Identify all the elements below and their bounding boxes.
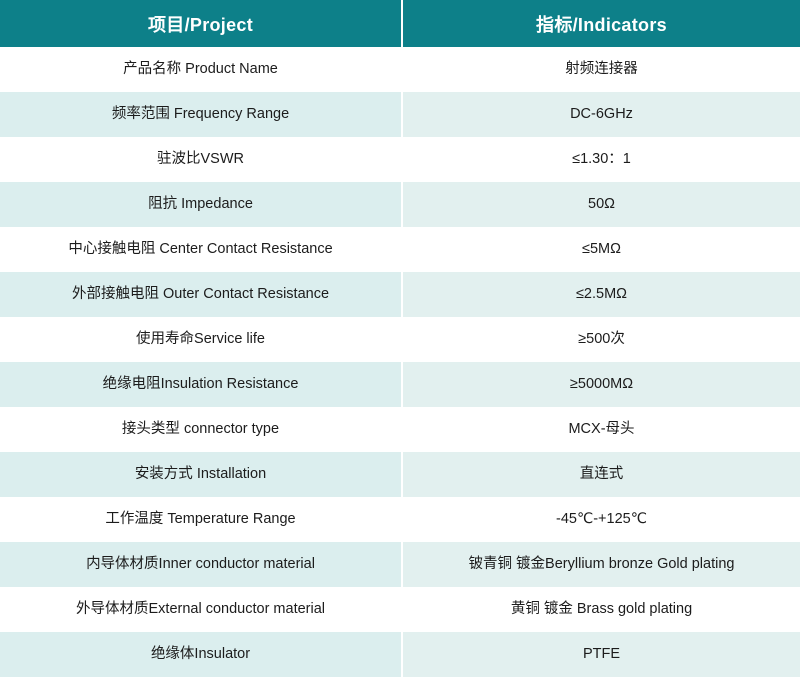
cell-project: 中心接触电阻 Center Contact Resistance xyxy=(0,227,402,272)
specification-table: 项目/Project 指标/Indicators 产品名称 Product Na… xyxy=(0,0,800,677)
cell-indicator: ≥500次 xyxy=(402,317,800,362)
cell-project: 外部接触电阻 Outer Contact Resistance xyxy=(0,272,402,317)
cell-indicator: 射频连接器 xyxy=(402,47,800,92)
cell-indicator: 50Ω xyxy=(402,182,800,227)
header-cell-indicators: 指标/Indicators xyxy=(402,0,800,47)
cell-indicator: ≤5MΩ xyxy=(402,227,800,272)
cell-indicator: ≤1.30：1 xyxy=(402,137,800,182)
cell-project: 频率范围 Frequency Range xyxy=(0,92,402,137)
table-row: 安装方式 Installation直连式 xyxy=(0,452,800,497)
cell-indicator: PTFE xyxy=(402,632,800,677)
table-row: 阻抗 Impedance50Ω xyxy=(0,182,800,227)
cell-indicator: -45℃-+125℃ xyxy=(402,497,800,542)
table-row: 工作温度 Temperature Range-45℃-+125℃ xyxy=(0,497,800,542)
cell-project: 接头类型 connector type xyxy=(0,407,402,452)
cell-indicator: ≥5000MΩ xyxy=(402,362,800,407)
cell-project: 绝缘电阻Insulation Resistance xyxy=(0,362,402,407)
table-row: 驻波比VSWR≤1.30：1 xyxy=(0,137,800,182)
table-header: 项目/Project 指标/Indicators xyxy=(0,0,800,47)
table-row: 中心接触电阻 Center Contact Resistance≤5MΩ xyxy=(0,227,800,272)
table-body: 产品名称 Product Name射频连接器频率范围 Frequency Ran… xyxy=(0,47,800,677)
cell-indicator: 黄铜 镀金 Brass gold plating xyxy=(402,587,800,632)
cell-project: 工作温度 Temperature Range xyxy=(0,497,402,542)
table-row: 产品名称 Product Name射频连接器 xyxy=(0,47,800,92)
cell-indicator: ≤2.5MΩ xyxy=(402,272,800,317)
table-row: 内导体材质Inner conductor material铍青铜 镀金Beryl… xyxy=(0,542,800,587)
header-cell-project: 项目/Project xyxy=(0,0,402,47)
cell-project: 外导体材质External conductor material xyxy=(0,587,402,632)
cell-indicator: DC-6GHz xyxy=(402,92,800,137)
cell-project: 产品名称 Product Name xyxy=(0,47,402,92)
cell-project: 驻波比VSWR xyxy=(0,137,402,182)
cell-indicator: 直连式 xyxy=(402,452,800,497)
cell-indicator: MCX-母头 xyxy=(402,407,800,452)
cell-project: 内导体材质Inner conductor material xyxy=(0,542,402,587)
table-header-row: 项目/Project 指标/Indicators xyxy=(0,0,800,47)
table-row: 外导体材质External conductor material黄铜 镀金 Br… xyxy=(0,587,800,632)
table-row: 接头类型 connector typeMCX-母头 xyxy=(0,407,800,452)
cell-project: 绝缘体Insulator xyxy=(0,632,402,677)
table-row: 绝缘电阻Insulation Resistance≥5000MΩ xyxy=(0,362,800,407)
table-row: 绝缘体InsulatorPTFE xyxy=(0,632,800,677)
cell-indicator: 铍青铜 镀金Beryllium bronze Gold plating xyxy=(402,542,800,587)
cell-project: 阻抗 Impedance xyxy=(0,182,402,227)
cell-project: 安装方式 Installation xyxy=(0,452,402,497)
table-row: 外部接触电阻 Outer Contact Resistance≤2.5MΩ xyxy=(0,272,800,317)
cell-project: 使用寿命Service life xyxy=(0,317,402,362)
table-row: 频率范围 Frequency RangeDC-6GHz xyxy=(0,92,800,137)
table-row: 使用寿命Service life≥500次 xyxy=(0,317,800,362)
